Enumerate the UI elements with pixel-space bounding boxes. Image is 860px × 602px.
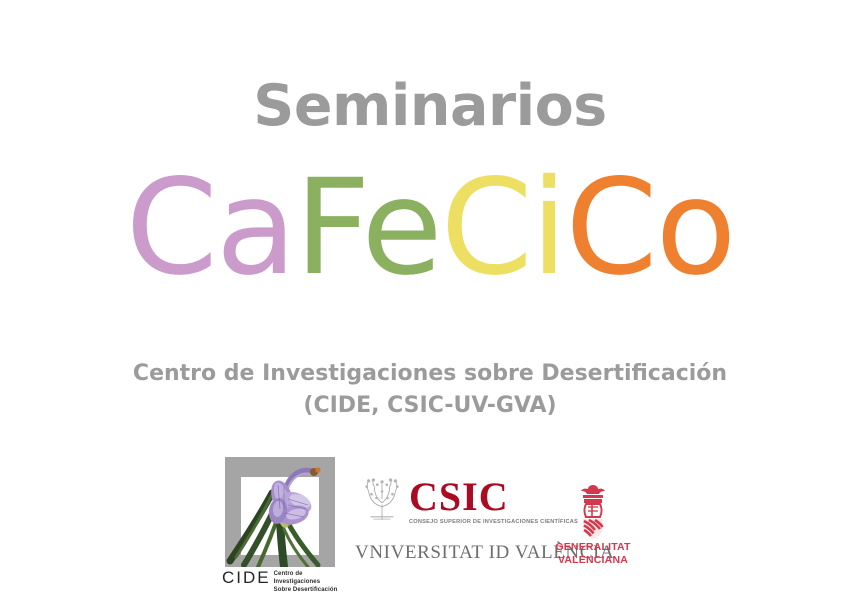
cide-acronym: CIDE [222,569,271,586]
wordmark-syllable-ci: Ci [441,151,566,305]
cide-logo: CIDE Centro de Investigaciones Sobre Des… [222,457,338,600]
logo-strip: CIDE Centro de Investigaciones Sobre Des… [0,455,860,602]
csic-logo: CSIC CONSEJO SUPERIOR DE INVESTIGACIONES… [361,478,578,525]
presentation-slide: Seminarios CaFeCiCo Centro de Investigac… [0,0,860,602]
subtitle-line-2: (CIDE, CSIC-UV-GVA) [0,390,860,422]
generalitat-valenciana-logo: GENERALITAT VALENCIANA [553,483,633,578]
cide-tagline-line-1: Centro de Investigaciones [274,571,321,585]
subtitle-line-1: Centro de Investigaciones sobre Desertif… [133,361,727,386]
generalitat-line-2: VALENCIANA [558,554,628,566]
subtitle: Centro de Investigaciones sobre Desertif… [0,358,860,422]
csic-uv-logo-block: CSIC CONSEJO SUPERIOR DE INVESTIGACIONES… [355,464,555,582]
csic-seal-icon [361,478,403,522]
page-title: Seminarios [0,78,860,135]
universitat-valencia-wordmark: VNIVERSITAT ID VALÈNCIA [355,542,555,564]
wordmark-syllable-ca: Ca [126,151,295,305]
generalitat-bat-crest-icon [571,483,615,541]
wordmark-syllable-fe: Fe [295,151,441,305]
cide-tagline-line-2: Sobre Desertificación [274,587,338,593]
cide-tagline: Centro de Investigaciones Sobre Desertif… [274,570,338,594]
cafecico-wordmark: CaFeCiCo [0,162,860,294]
iris-flower-icon [222,457,332,567]
cide-caption: CIDE Centro de Investigaciones Sobre Des… [222,569,338,594]
generalitat-line-1: GENERALITAT [555,541,630,553]
generalitat-wordmark: GENERALITAT VALENCIANA [553,541,633,567]
wordmark-syllable-co: Co [565,151,734,305]
